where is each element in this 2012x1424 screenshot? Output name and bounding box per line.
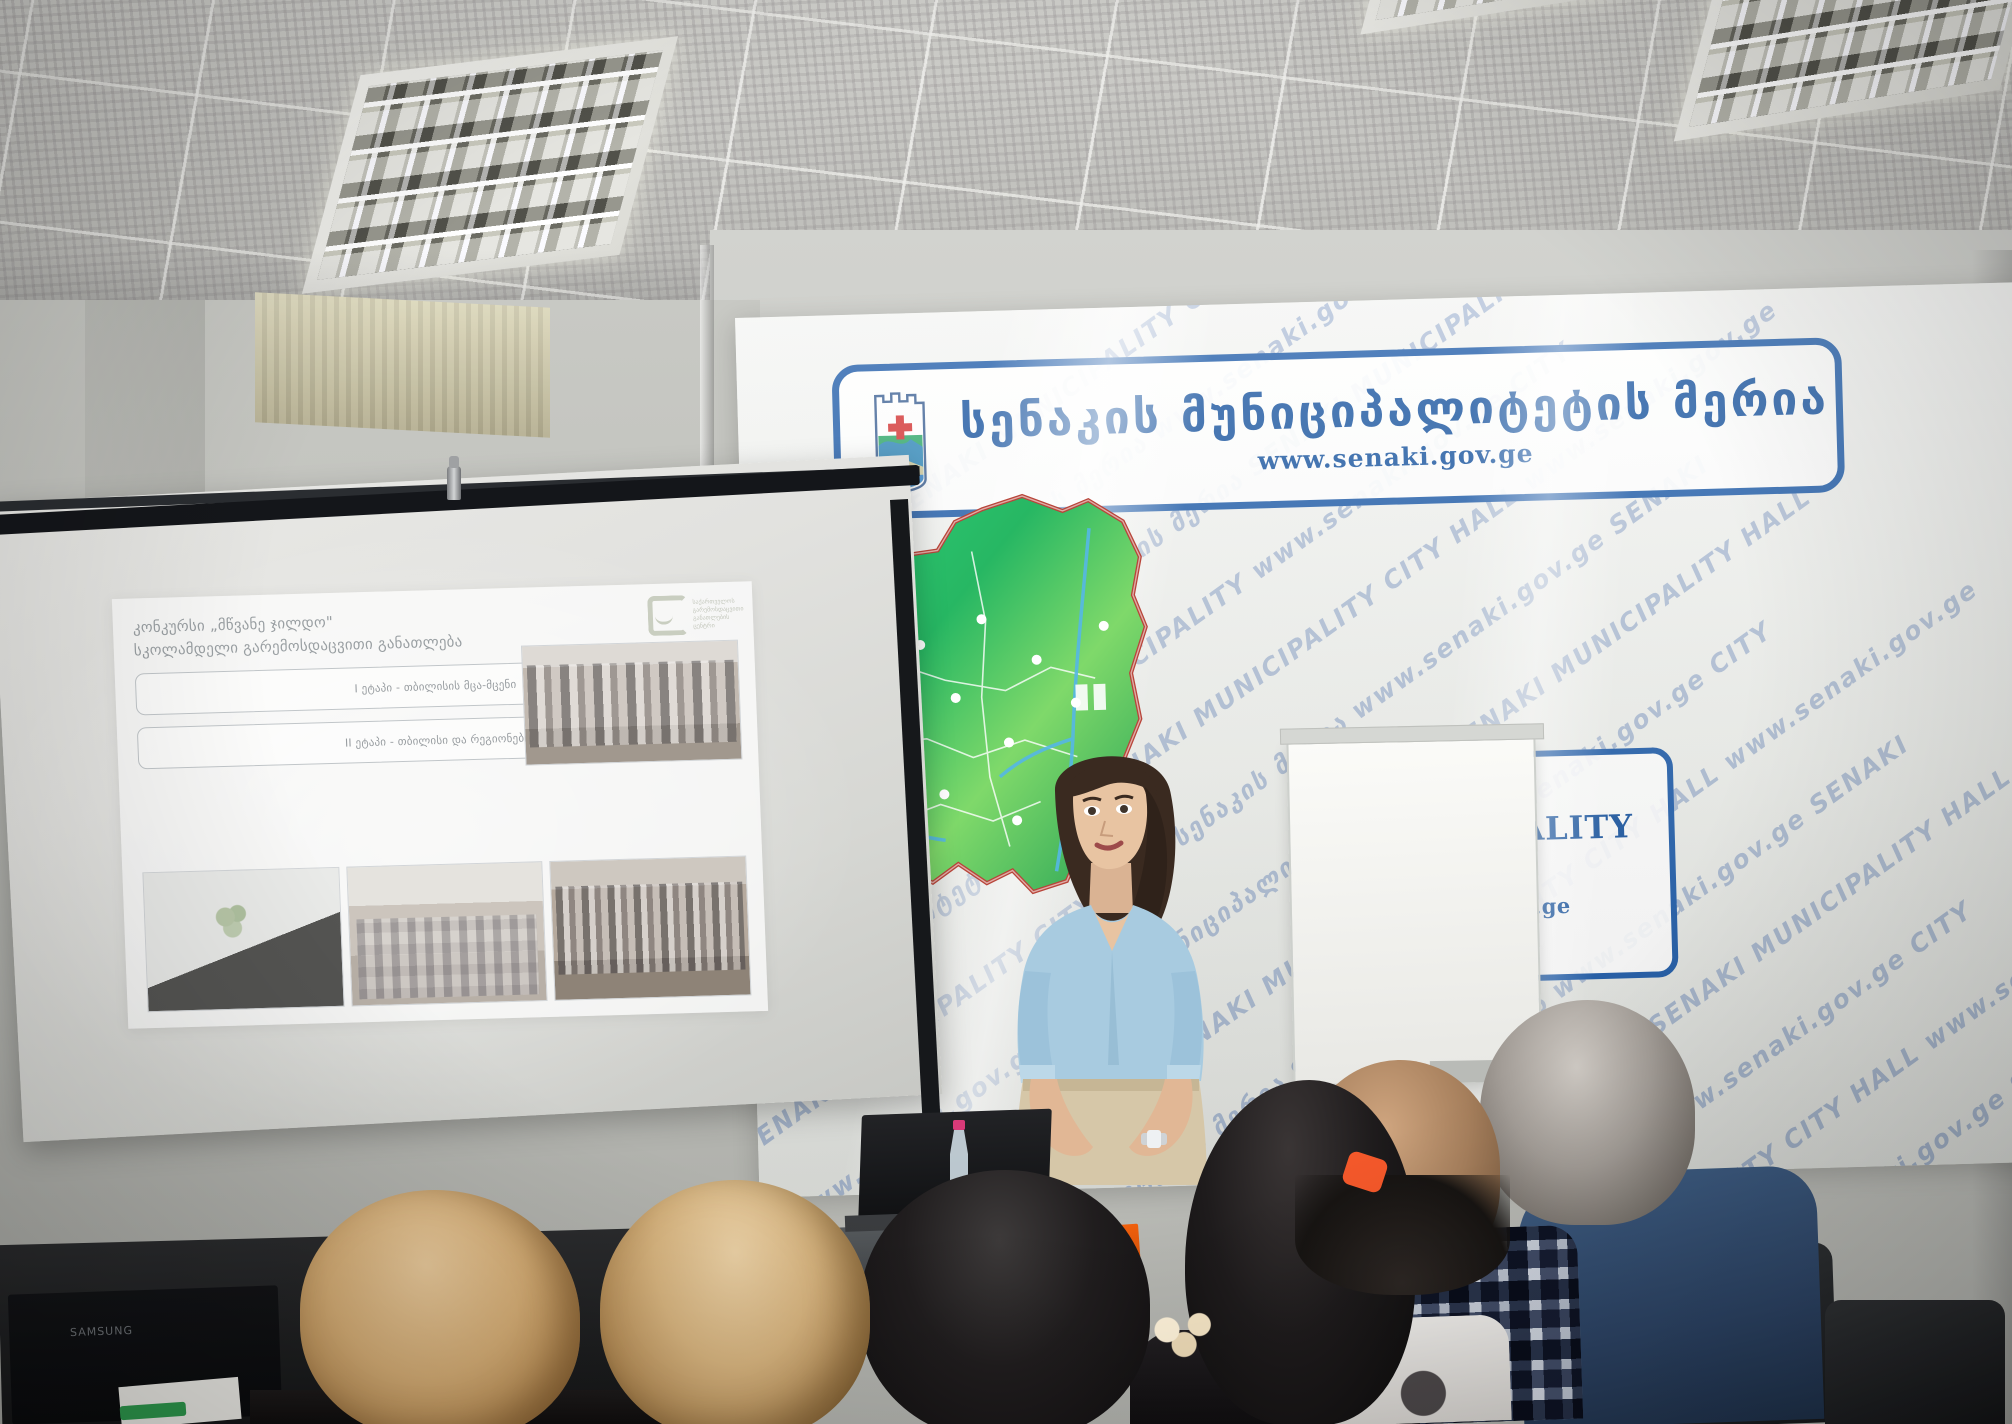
light-louvre-icon <box>317 50 663 280</box>
flipchart-easel <box>1286 737 1542 1086</box>
attendee-bald-man-hair <box>1295 1175 1510 1295</box>
office-chair <box>1825 1300 2005 1424</box>
attendee-grey-hair-man <box>1480 1000 1695 1225</box>
conference-room-scene: სენაკის მუნიციპალიტეტის მერია SENAKI MUN… <box>0 0 2012 1424</box>
monitor-brand-label: SAMSUNG <box>70 1324 133 1339</box>
slide-photo-strip <box>142 855 751 1012</box>
screen-mount-knob <box>447 466 461 500</box>
slide-photo-ceremony <box>550 855 752 1000</box>
attendee-dark-hair-center <box>860 1170 1150 1424</box>
banner-text-block: სენაკის მუნიციპალიტეტის მერია www.senaki… <box>959 370 1860 484</box>
presentation-slide: საქართველოს გარემოსდაცვითი განათლების ცე… <box>112 581 768 1029</box>
banner-url: www.senaki.gov.ge <box>1257 439 1534 476</box>
slide-photo-plant-desk <box>142 867 344 1012</box>
blinds-shading <box>255 292 550 437</box>
slide-photo-audience <box>346 861 548 1006</box>
hair-clip <box>1138 1306 1229 1363</box>
attendee-blonde-front-center <box>600 1180 870 1424</box>
banner-title: სენაკის მუნიციპალიტეტის მერია <box>959 371 1829 449</box>
window-blinds <box>255 292 550 437</box>
slide-photo-award-group <box>521 640 743 766</box>
